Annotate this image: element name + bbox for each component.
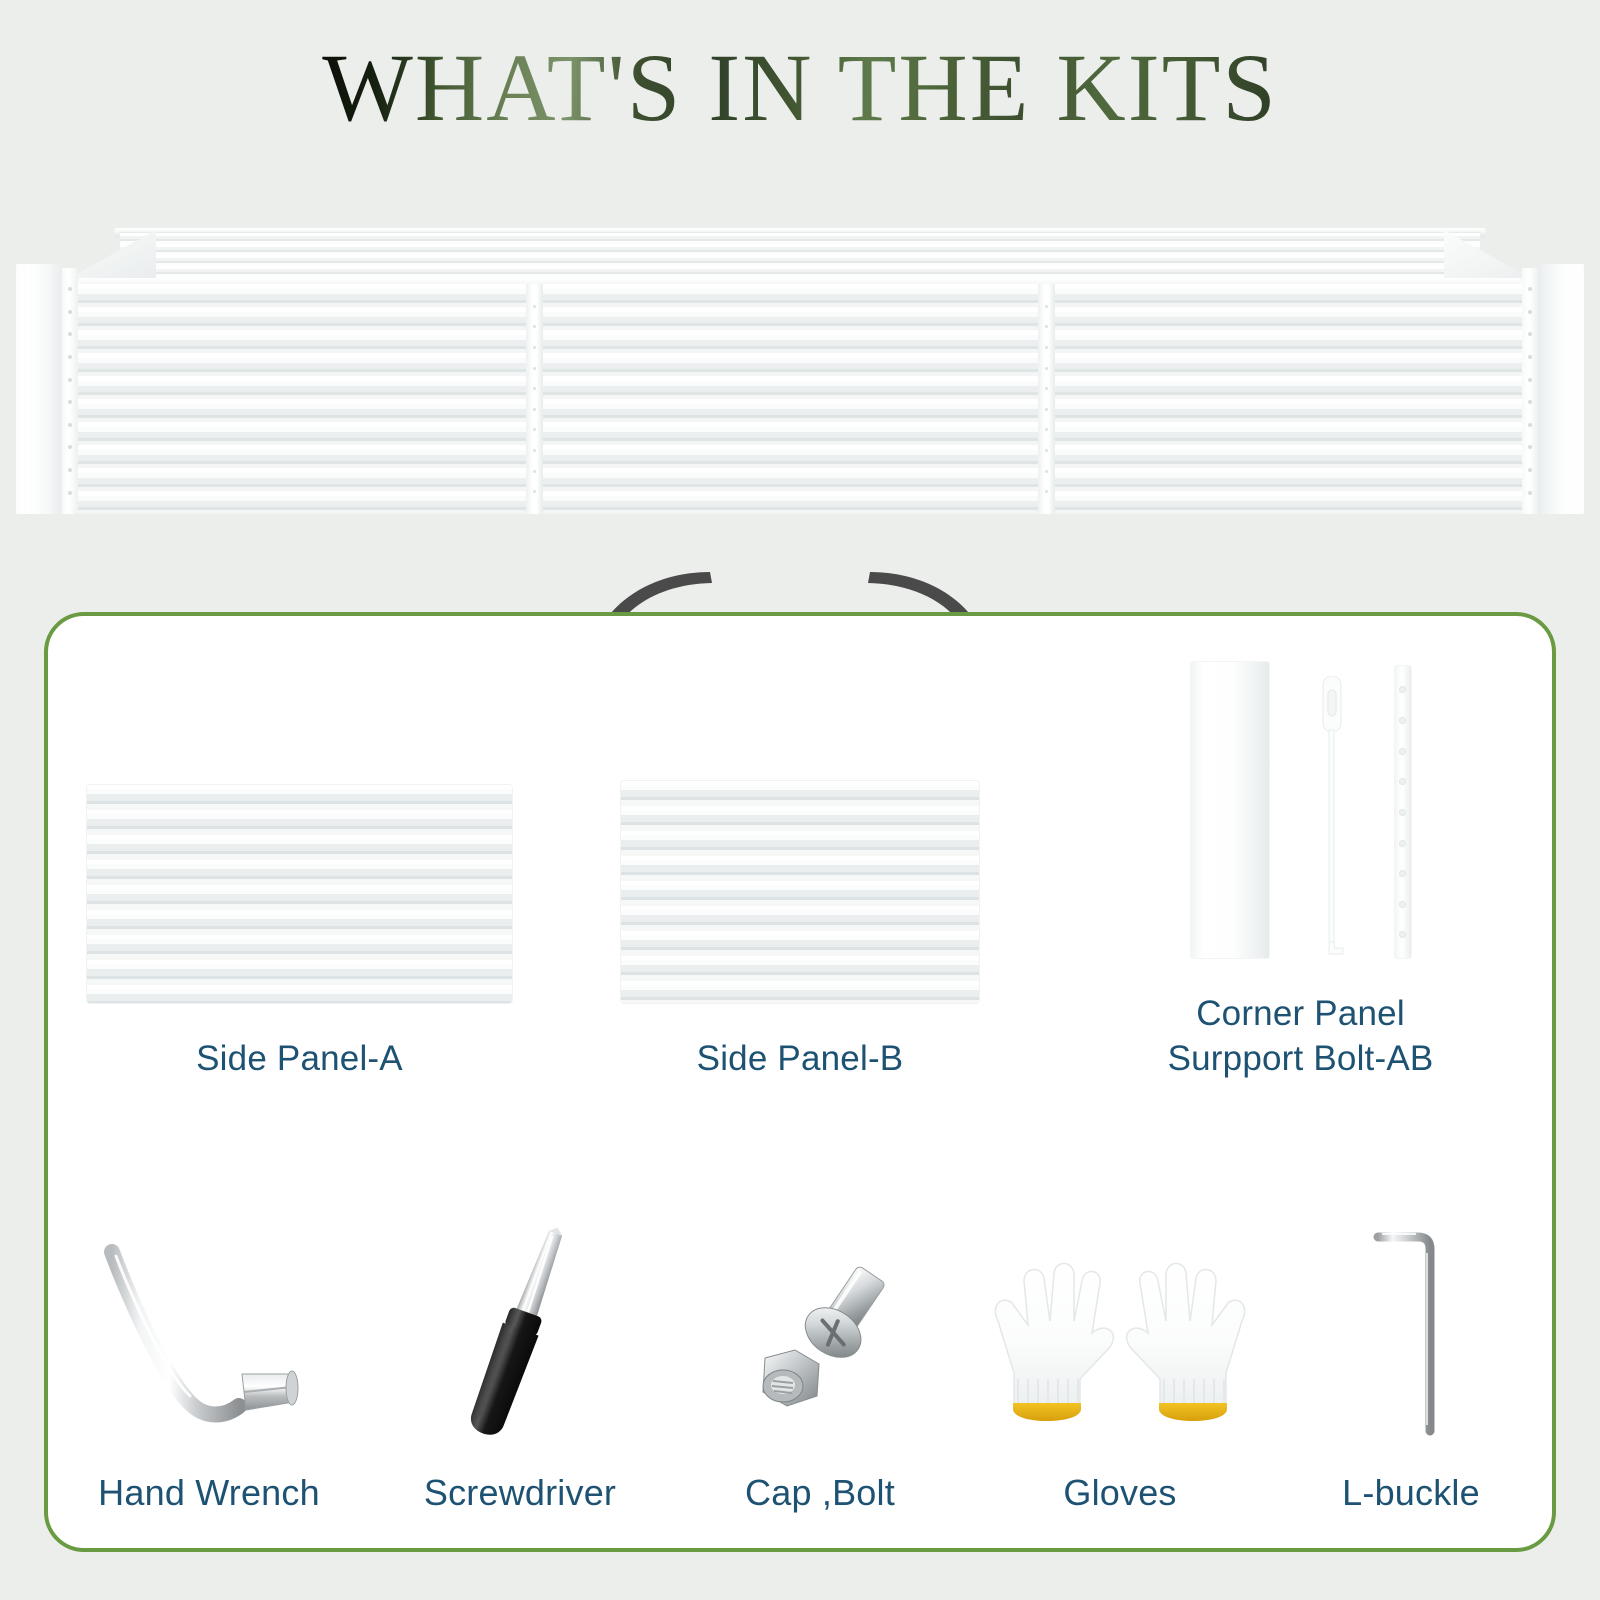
perforated-strip-icon bbox=[1395, 666, 1411, 958]
bed-bolt-seam-right bbox=[1522, 268, 1538, 514]
kit-item-hand-wrench[interactable]: Hand Wrench bbox=[48, 1116, 370, 1516]
kit-item-cap-bolt[interactable]: Cap ,Bolt bbox=[670, 1116, 970, 1516]
bed-panel-joint-1 bbox=[526, 284, 543, 514]
corner-panel-art bbox=[1049, 662, 1552, 958]
kit-item-gloves[interactable]: Gloves bbox=[970, 1116, 1270, 1516]
kit-item-side-panel-a[interactable]: Side Panel-A bbox=[48, 662, 551, 1082]
kit-item-label: Side Panel-A bbox=[196, 1037, 403, 1082]
kit-item-label: Gloves bbox=[1063, 1470, 1176, 1516]
page-title-container: WHAT'S IN THE KITS bbox=[0, 38, 1600, 139]
glove-left bbox=[995, 1263, 1113, 1421]
screwdriver-art bbox=[370, 1214, 670, 1444]
kit-item-side-panel-b[interactable]: Side Panel-B bbox=[551, 662, 1049, 1082]
glove-right bbox=[1127, 1263, 1245, 1421]
bed-front-corrugated-wall bbox=[78, 284, 1522, 514]
gloves-icon bbox=[980, 1259, 1260, 1444]
kit-row-top: Side Panel-A Side Panel-B bbox=[48, 662, 1552, 1082]
corrugated-panel-narrow-icon bbox=[621, 781, 979, 1003]
l-buckle-icon bbox=[1356, 1219, 1466, 1444]
kit-item-l-buckle[interactable]: L-buckle bbox=[1270, 1116, 1552, 1516]
kit-item-screwdriver[interactable]: Screwdriver bbox=[370, 1116, 670, 1516]
side-panel-b-art bbox=[551, 781, 1049, 1003]
kit-item-label: Hand Wrench bbox=[98, 1470, 320, 1516]
l-buckle-art bbox=[1270, 1214, 1552, 1444]
kit-item-label: Corner Panel Surpport Bolt-AB bbox=[1168, 992, 1434, 1082]
support-bolt-svg bbox=[1317, 676, 1347, 958]
bed-corner-post-right bbox=[1538, 264, 1584, 514]
hand-wrench-icon bbox=[94, 1234, 324, 1444]
support-bolt-icon bbox=[1317, 676, 1347, 958]
cap-bolt-art bbox=[670, 1214, 970, 1444]
kit-item-label: L-buckle bbox=[1342, 1470, 1480, 1516]
corner-panel-icon bbox=[1191, 662, 1269, 958]
kit-item-label: Cap ,Bolt bbox=[745, 1470, 895, 1516]
kit-item-corner-panel[interactable]: Corner Panel Surpport Bolt-AB bbox=[1049, 662, 1552, 1082]
gloves-art bbox=[970, 1214, 1270, 1444]
screwdriver-icon bbox=[435, 1219, 605, 1444]
hand-wrench-art bbox=[48, 1214, 370, 1444]
bed-corner-post-left bbox=[16, 264, 62, 514]
cap-bolt-icon bbox=[725, 1254, 915, 1444]
bed-panel-joint-2 bbox=[1038, 284, 1055, 514]
kit-item-label: Side Panel-B bbox=[697, 1037, 904, 1082]
raised-garden-bed-image bbox=[8, 222, 1592, 522]
kit-contents-card: Side Panel-A Side Panel-B bbox=[44, 612, 1556, 1552]
kit-item-label: Screwdriver bbox=[424, 1470, 616, 1516]
kit-row-bottom: Hand Wrench bbox=[48, 1116, 1552, 1516]
page-title: WHAT'S IN THE KITS bbox=[322, 38, 1277, 139]
bed-bolt-seam-left bbox=[62, 268, 78, 514]
corrugated-panel-wide-icon bbox=[87, 785, 512, 1003]
corner-panel-group bbox=[1191, 662, 1411, 958]
side-panel-a-art bbox=[48, 785, 551, 1003]
